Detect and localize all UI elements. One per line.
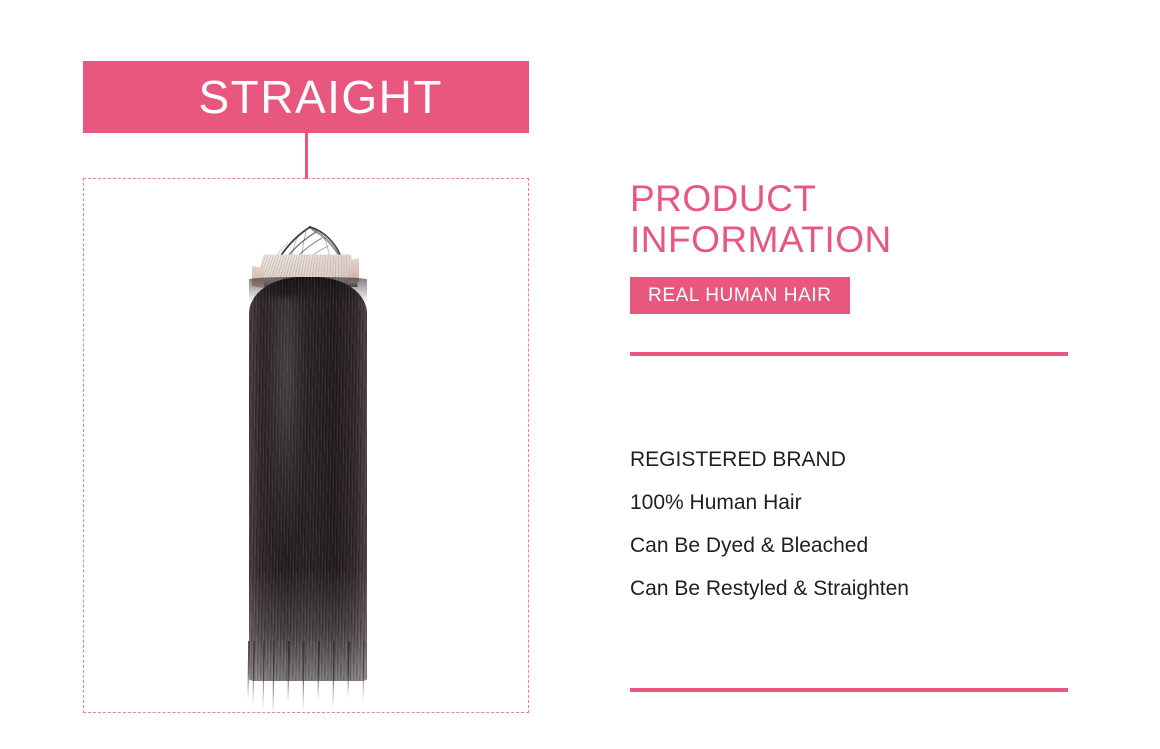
product-info-page: STRAIGHT [0,0,1160,749]
hair-sheen-highlight [266,297,306,547]
product-image-frame [83,178,529,713]
page-title-line-1: PRODUCT [630,178,816,219]
hair-body [249,277,367,681]
product-information-panel: PRODUCT INFORMATION REAL HUMAN HAIR REGI… [630,0,1090,749]
list-item: REGISTERED BRAND [630,438,909,481]
status-badge: REAL HUMAN HAIR [630,277,850,314]
product-image-straight-lace-closure [206,201,406,701]
divider-top [630,352,1068,356]
divider-bottom [630,688,1068,692]
product-showcase: STRAIGHT [0,0,580,749]
list-item: 100% Human Hair [630,481,909,524]
page-title-line-2: INFORMATION [630,219,892,260]
feature-list: REGISTERED BRAND 100% Human Hair Can Be … [630,438,909,610]
status-badge-label: REAL HUMAN HAIR [648,286,832,305]
hair-tapered-ends [242,641,374,719]
banner-pointer-icon [305,133,308,179]
style-banner-label: STRAIGHT [198,74,443,120]
style-banner: STRAIGHT [83,61,529,133]
page-title: PRODUCT INFORMATION [630,178,892,260]
list-item: Can Be Dyed & Bleached [630,524,909,567]
list-item: Can Be Restyled & Straighten [630,567,909,610]
